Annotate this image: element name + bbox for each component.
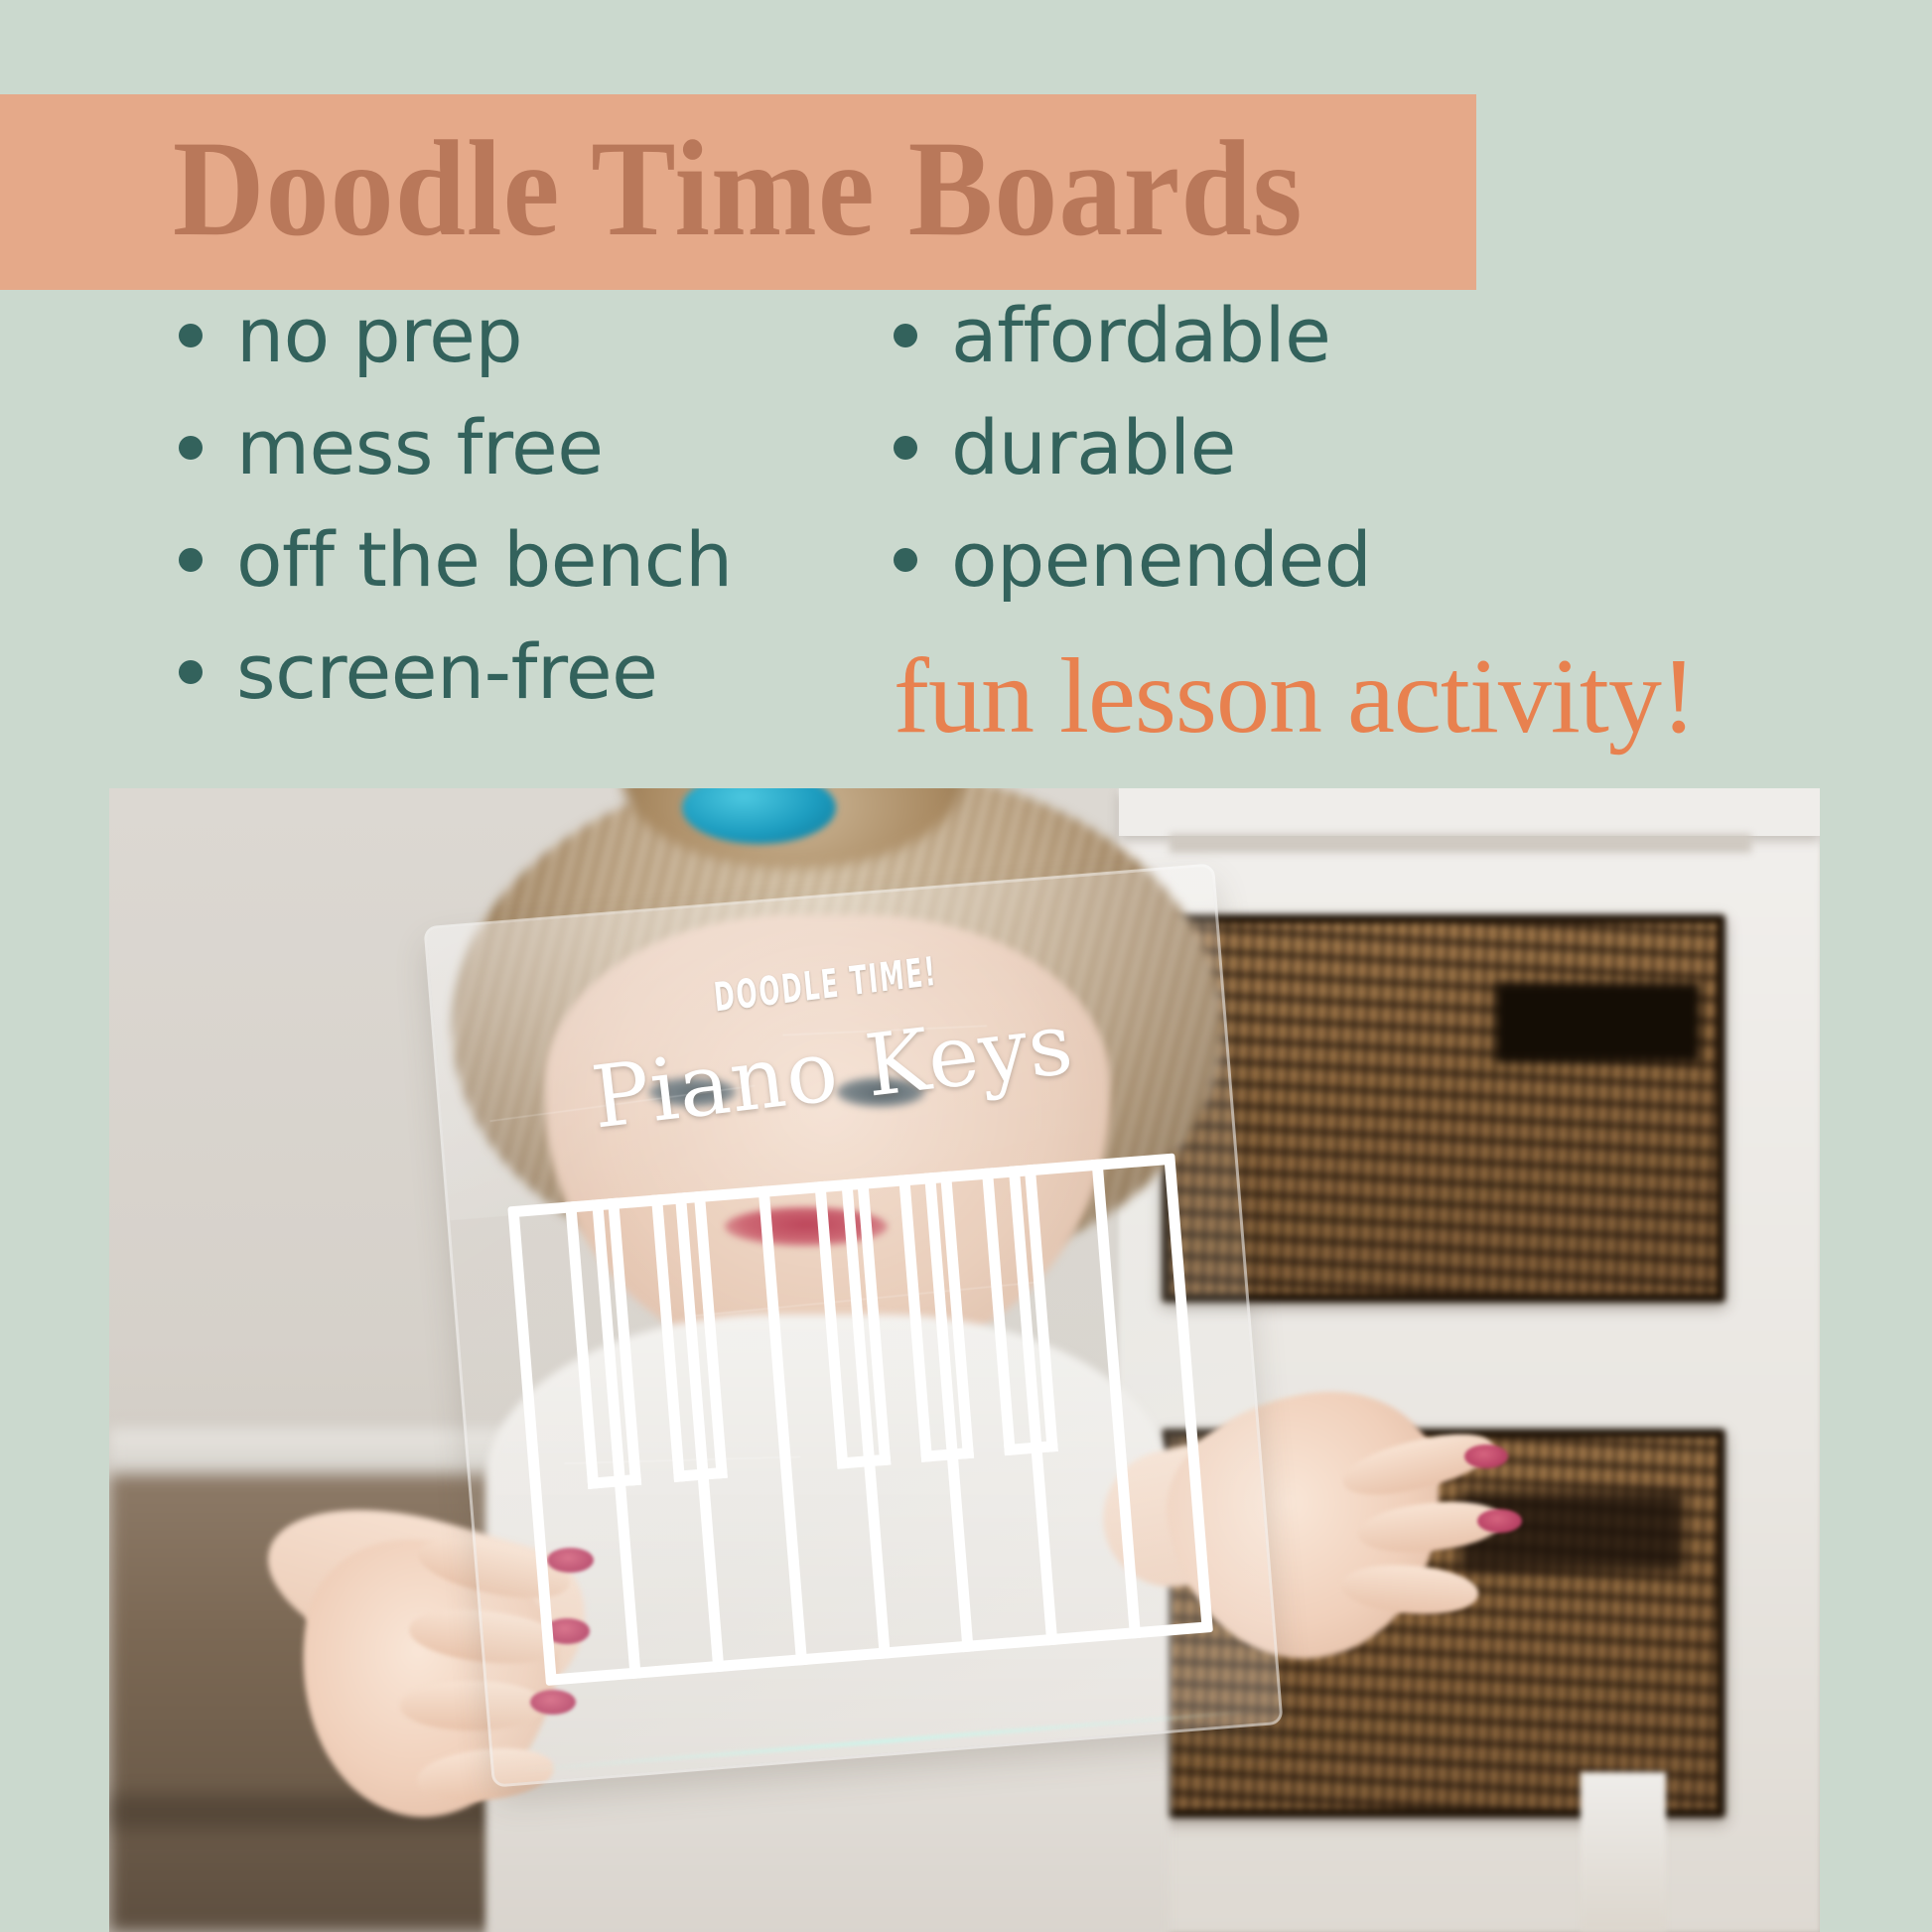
- benefit-label: openended: [951, 522, 1371, 598]
- product-photo: DOODLE TIME! Piano Keys: [109, 788, 1820, 1932]
- photo-basket-shadow: [1495, 983, 1701, 1063]
- benefit-label: no prep: [236, 298, 522, 373]
- bullet-dot-icon: [179, 660, 203, 684]
- tagline-text: fun lesson activity!: [894, 643, 1696, 751]
- benefit-label: mess free: [236, 410, 604, 485]
- bullet-dot-icon: [179, 324, 203, 347]
- benefit-label: durable: [951, 410, 1236, 485]
- list-item: durable: [894, 410, 1787, 522]
- benefit-label: affordable: [951, 298, 1330, 373]
- benefits-column-right: affordable durable openended: [894, 298, 1787, 634]
- benefit-label: off the bench: [236, 522, 733, 598]
- photo-shelf-edge: [1170, 834, 1751, 852]
- title-banner: Doodle Time Boards: [0, 94, 1476, 290]
- photo-shelf-top: [1119, 788, 1820, 836]
- list-item: openended: [894, 522, 1787, 634]
- photo-shelf-leg: [1581, 1772, 1666, 1932]
- bullet-dot-icon: [179, 548, 203, 572]
- piano-keys-graphic: [508, 1154, 1213, 1686]
- list-item: screen-free: [179, 634, 874, 747]
- list-item: affordable: [894, 298, 1787, 410]
- promotional-graphic: Doodle Time Boards no prep mess free off…: [0, 0, 1932, 1932]
- bullet-dot-icon: [179, 436, 203, 460]
- photo-wicker-basket: [1162, 914, 1726, 1304]
- list-item: mess free: [179, 410, 874, 522]
- bullet-dot-icon: [894, 548, 917, 572]
- list-item: no prep: [179, 298, 874, 410]
- photo-fingernail: [1477, 1509, 1522, 1533]
- list-item: off the bench: [179, 522, 874, 634]
- bullet-dot-icon: [894, 436, 917, 460]
- acrylic-doodle-board: DOODLE TIME! Piano Keys: [427, 867, 1280, 1785]
- benefits-column-left: no prep mess free off the bench screen-f…: [179, 298, 874, 747]
- page-title: Doodle Time Boards: [173, 120, 1304, 265]
- benefit-label: screen-free: [236, 634, 657, 710]
- bullet-dot-icon: [894, 324, 917, 347]
